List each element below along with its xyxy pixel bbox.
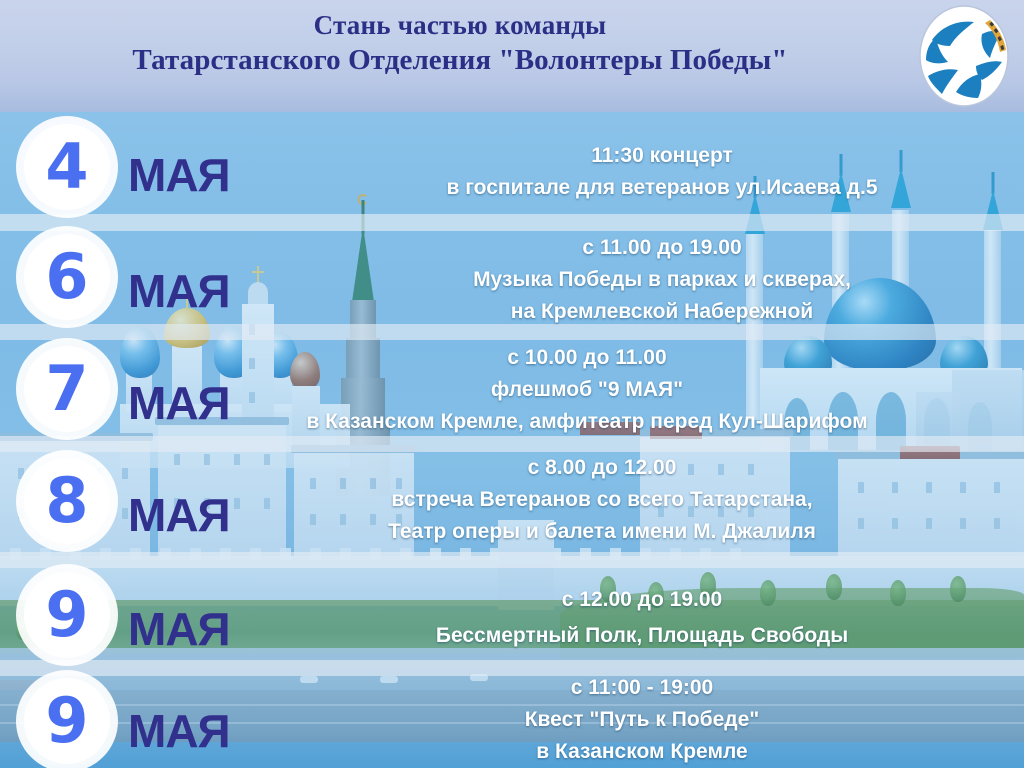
event-text: с 8.00 до 12.00 встреча Ветеранов со все…	[180, 452, 1024, 548]
schedule-row: 9 МАЯ с 12.00 до 19.00 Бессмертный Полк,…	[0, 564, 1024, 660]
date-badge: 9	[24, 678, 110, 764]
event-text: с 11:00 - 19:00 Квест "Путь к Победе" в …	[260, 672, 1024, 768]
event-line: в Казанском Кремле, амфитеатр перед Кул-…	[150, 406, 1024, 438]
date-badge: 4	[24, 124, 110, 210]
date-number: 9	[45, 584, 88, 646]
event-line: с 11:00 - 19:00	[260, 672, 1024, 704]
event-line: с 12.00 до 19.00	[260, 582, 1024, 618]
event-line: на Кремлевской Набережной	[300, 296, 1024, 328]
schedule-row: 9 МАЯ с 11:00 - 19:00 Квест "Путь к Побе…	[0, 672, 1024, 768]
month-label: МАЯ	[128, 602, 230, 656]
event-text: с 11.00 до 19.00 Музыка Победы в парках …	[300, 232, 1024, 328]
event-line: с 10.00 до 11.00	[150, 342, 1024, 374]
event-text: с 12.00 до 19.00 Бессмертный Полк, Площа…	[260, 582, 1024, 654]
event-line: в Казанском Кремле	[260, 736, 1024, 768]
event-line: Театр оперы и балета имени М. Джалиля	[180, 516, 1024, 548]
title-line-1: Стань частью команды	[0, 8, 920, 42]
schedule-row: 7 МАЯ с 10.00 до 11.00 флешмоб "9 МАЯ" в…	[0, 334, 1024, 438]
month-label: МАЯ	[128, 148, 230, 202]
event-line: флешмоб "9 МАЯ"	[150, 374, 1024, 406]
date-number: 6	[45, 246, 88, 308]
schedule-row: 6 МАЯ с 11.00 до 19.00 Музыка Победы в п…	[0, 222, 1024, 324]
title-line-2: Татарстанского Отделения "Волонтеры Побе…	[0, 42, 920, 78]
poster-header: Стань частью команды Татарстанского Отде…	[0, 0, 1024, 112]
date-number: 7	[45, 358, 88, 420]
month-label: МАЯ	[128, 704, 230, 758]
schedule-row: 4 МАЯ 11:30 концерт в госпитале для вете…	[0, 112, 1024, 214]
date-badge: 6	[24, 234, 110, 320]
month-label: МАЯ	[128, 264, 230, 318]
date-badge: 8	[24, 458, 110, 544]
event-line: Музыка Победы в парках и скверах,	[300, 264, 1024, 296]
event-text: с 10.00 до 11.00 флешмоб "9 МАЯ" в Казан…	[150, 342, 1024, 438]
event-line: встреча Ветеранов со всего Татарстана,	[180, 484, 1024, 516]
date-badge: 7	[24, 346, 110, 432]
dove-volunteers-of-victory-logo	[912, 4, 1016, 108]
date-number: 9	[45, 690, 88, 752]
event-text: 11:30 концерт в госпитале для ветеранов …	[300, 140, 1024, 204]
event-line: с 11.00 до 19.00	[300, 232, 1024, 264]
event-line: в госпитале для ветеранов ул.Исаева д.5	[300, 172, 1024, 204]
schedule-row: 8 МАЯ с 8.00 до 12.00 встреча Ветеранов …	[0, 448, 1024, 552]
event-line: 11:30 концерт	[300, 140, 1024, 172]
page-title: Стань частью команды Татарстанского Отде…	[0, 8, 920, 78]
event-line: Квест "Путь к Победе"	[260, 704, 1024, 736]
date-number: 4	[45, 136, 88, 198]
poster-root: Стань частью команды Татарстанского Отде…	[0, 0, 1024, 768]
date-number: 8	[45, 470, 88, 532]
event-line: с 8.00 до 12.00	[180, 452, 1024, 484]
date-badge: 9	[24, 572, 110, 658]
event-line: Бессмертный Полк, Площадь Свободы	[260, 618, 1024, 654]
